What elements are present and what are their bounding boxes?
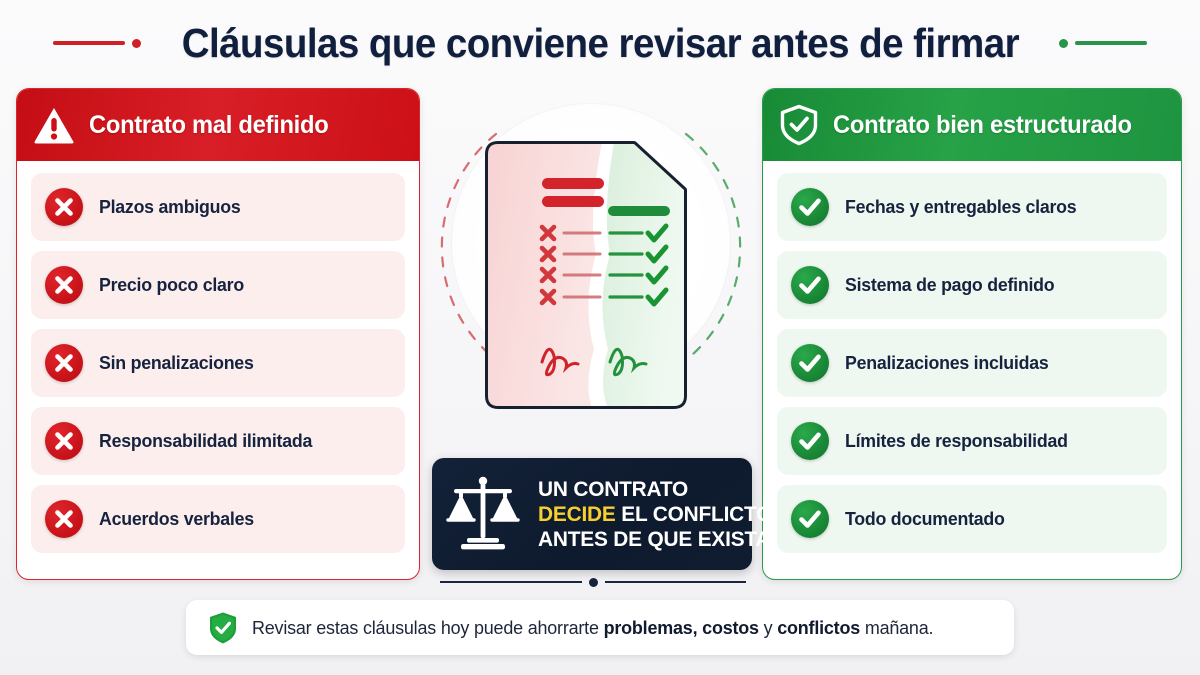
list-item[interactable]: Sistema de pago definido [777,251,1167,319]
footer-text-part1: Revisar estas cláusulas hoy puede ahorra… [252,617,604,638]
red-dash-icon [53,41,125,45]
quote-badge: UN CONTRATO DECIDE EL CONFLICTO ANTES DE… [432,458,752,570]
quote-rule-divider [440,576,746,588]
red-dot-icon [132,39,141,48]
rule-segment-left [440,581,582,583]
quote-highlight: DECIDE [538,502,616,526]
list-item-label: Fechas y entregables claros [845,196,1076,218]
list-item[interactable]: Sin penalizaciones [31,329,405,397]
footer-bold-1: problemas, costos [604,617,759,638]
scales-of-justice-icon [446,472,520,556]
list-item[interactable]: Plazos ambiguos [31,173,405,241]
check-circle-icon [791,344,829,382]
footer-text: Revisar estas cláusulas hoy puede ahorra… [252,617,933,639]
title-decoration-left [53,39,141,48]
quote-line-3: ANTES DE QUE EXISTA [538,527,772,551]
panel-header-bad-label: Contrato mal definido [89,111,328,140]
list-item-label: Acuerdos verbales [99,508,254,530]
warning-triangle-icon [33,105,75,145]
panel-contrato-bien-estructurado: Contrato bien estructurado Fechas y entr… [762,88,1182,580]
shield-check-icon [208,611,238,645]
list-item-label: Sistema de pago definido [845,274,1054,296]
check-circle-icon [791,422,829,460]
footer-bold-2: conflictos [777,617,860,638]
quote-line-1: UN CONTRATO [538,477,772,501]
check-circle-icon [791,266,829,304]
check-circle-icon [791,500,829,538]
list-item[interactable]: Acuerdos verbales [31,485,405,553]
panel-header-good-label: Contrato bien estructurado [833,111,1132,140]
list-item[interactable]: Límites de responsabilidad [777,407,1167,475]
check-circle-icon [791,188,829,226]
list-item-label: Límites de responsabilidad [845,430,1068,452]
panel-contrato-mal-definido: Contrato mal definido Plazos ambiguos Pr… [16,88,420,580]
footer-text-part3: mañana. [860,617,933,638]
panel-header-bad: Contrato mal definido [17,89,419,161]
quote-lines: UN CONTRATO DECIDE EL CONFLICTO ANTES DE… [538,477,780,552]
contract-document-icon [484,134,698,412]
x-circle-icon [45,500,83,538]
x-circle-icon [45,188,83,226]
title-decoration-right [1059,39,1147,48]
footer-text-part2: y [759,617,777,638]
footer-bar: Revisar estas cláusulas hoy puede ahorra… [186,600,1014,655]
list-item[interactable]: Precio poco claro [31,251,405,319]
shield-check-icon [779,104,819,146]
quote-line-2: DECIDE EL CONFLICTO [538,502,772,526]
list-item-label: Todo documentado [845,508,1005,530]
infographic-canvas: Cláusulas que conviene revisar antes de … [0,0,1200,675]
torn-contract-illustration [424,96,758,448]
list-item[interactable]: Penalizaciones incluidas [777,329,1167,397]
list-item-label: Plazos ambiguos [99,196,240,218]
list-item-label: Responsabilidad ilimitada [99,430,312,452]
list-item-label: Sin penalizaciones [99,352,254,374]
rule-center-dot [589,578,598,587]
rule-segment-right [605,581,747,583]
green-dot-icon [1059,39,1068,48]
green-dash-icon [1075,41,1147,45]
list-item-label: Penalizaciones incluidas [845,352,1049,374]
panel-header-good: Contrato bien estructurado [763,89,1181,161]
page-title: Cláusulas que conviene revisar antes de … [181,20,1018,67]
title-row: Cláusulas que conviene revisar antes de … [0,12,1200,74]
list-item[interactable]: Todo documentado [777,485,1167,553]
list-item[interactable]: Responsabilidad ilimitada [31,407,405,475]
x-circle-icon [45,422,83,460]
list-item-label: Precio poco claro [99,274,244,296]
x-circle-icon [45,266,83,304]
x-circle-icon [45,344,83,382]
panel-body-good: Fechas y entregables claros Sistema de p… [763,161,1181,565]
panel-body-bad: Plazos ambiguos Precio poco claro Sin pe… [17,161,419,565]
quote-line-2-rest: EL CONFLICTO [616,502,773,526]
list-item[interactable]: Fechas y entregables claros [777,173,1167,241]
